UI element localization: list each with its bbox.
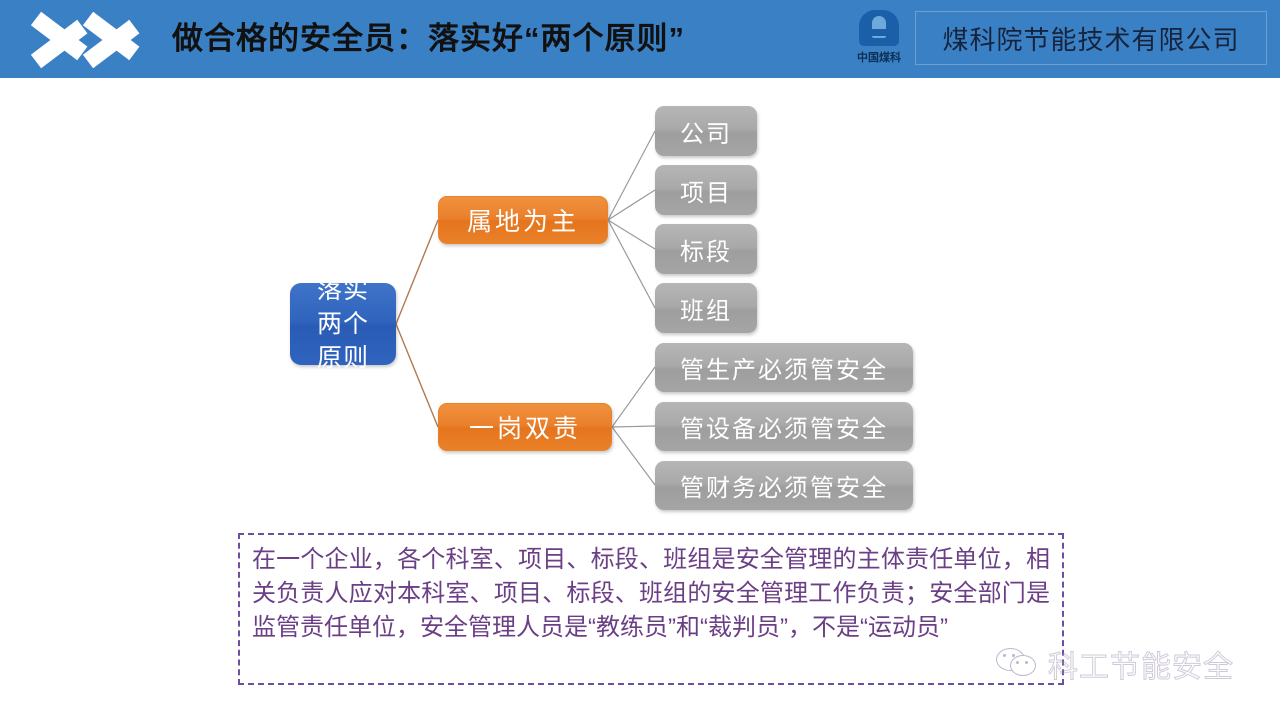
mindmap-leaf-node-2-1[interactable]: 管生产必须管安全: [655, 343, 913, 392]
wechat-watermark-label: 科工节能安全: [1048, 642, 1234, 686]
wechat-watermark: 科工节能安全: [996, 640, 1264, 688]
header-bar: 做合格的安全员：落实好“两个原则” 中国煤科 煤科院节能技术有限公司: [0, 0, 1280, 78]
mindmap-leaf-label-2-2: 管设备必须管安全: [680, 409, 888, 444]
company-logo-label: 中国煤科: [848, 49, 910, 65]
mindmap-branch-node-1[interactable]: 属地为主: [438, 196, 608, 244]
company-name-label: 煤科院节能技术有限公司: [942, 20, 1239, 57]
mindmap-leaf-node-1-3[interactable]: 标段: [655, 224, 757, 274]
note-callout-box: 在一个企业，各个科室、项目、标段、班组是安全管理的主体责任单位，相关负责人应对本…: [238, 533, 1064, 685]
wechat-dot-4: [1025, 661, 1028, 664]
mindmap-leaf-node-1-1[interactable]: 公司: [655, 106, 757, 156]
wechat-dot-1: [1003, 654, 1006, 657]
mindmap-leaf-node-1-4[interactable]: 班组: [655, 283, 757, 333]
mindmap-root-node[interactable]: 落实两个原则: [290, 283, 396, 365]
wechat-dot-3: [1016, 661, 1019, 664]
chevron-right-icon-2: [88, 0, 150, 78]
wechat-bubble-front: [1010, 655, 1036, 676]
mindmap-leaf-label-1-3: 标段: [680, 232, 732, 267]
mindmap-leaf-node-2-2[interactable]: 管设备必须管安全: [655, 402, 913, 451]
mindmap-root-label: 落实两个原则: [305, 273, 381, 375]
mindmap-branch-node-2[interactable]: 一岗双责: [438, 403, 612, 451]
company-logo: 中国煤科: [848, 10, 910, 68]
note-text: 在一个企业，各个科室、项目、标段、班组是安全管理的主体责任单位，相关负责人应对本…: [252, 543, 1050, 645]
mindmap-connectors: [0, 78, 1280, 528]
page-title: 做合格的安全员：落实好“两个原则”: [172, 14, 685, 64]
company-name-box: 煤科院节能技术有限公司: [915, 11, 1267, 65]
mindmap-leaf-label-1-4: 班组: [680, 291, 732, 326]
mindmap-leaf-label-1-1: 公司: [680, 114, 732, 149]
mindmap-leaf-node-2-3[interactable]: 管财务必须管安全: [655, 461, 913, 510]
mindmap-leaf-label-1-2: 项目: [680, 173, 732, 208]
mindmap-leaf-label-2-3: 管财务必须管安全: [680, 468, 888, 503]
coal-science-logo-mark: [859, 10, 899, 46]
mindmap-branch-label-1: 属地为主: [467, 202, 579, 238]
mindmap-diagram: 落实两个原则 属地为主 公司 项目 标段 班组 一岗双责 管生产必须管安全 管设…: [0, 78, 1280, 528]
wechat-icon: [996, 646, 1042, 682]
mindmap-leaf-label-2-1: 管生产必须管安全: [680, 350, 888, 385]
mindmap-leaf-node-1-2[interactable]: 项目: [655, 165, 757, 215]
wechat-dot-2: [1012, 654, 1015, 657]
mindmap-branch-label-2: 一岗双责: [469, 409, 581, 445]
